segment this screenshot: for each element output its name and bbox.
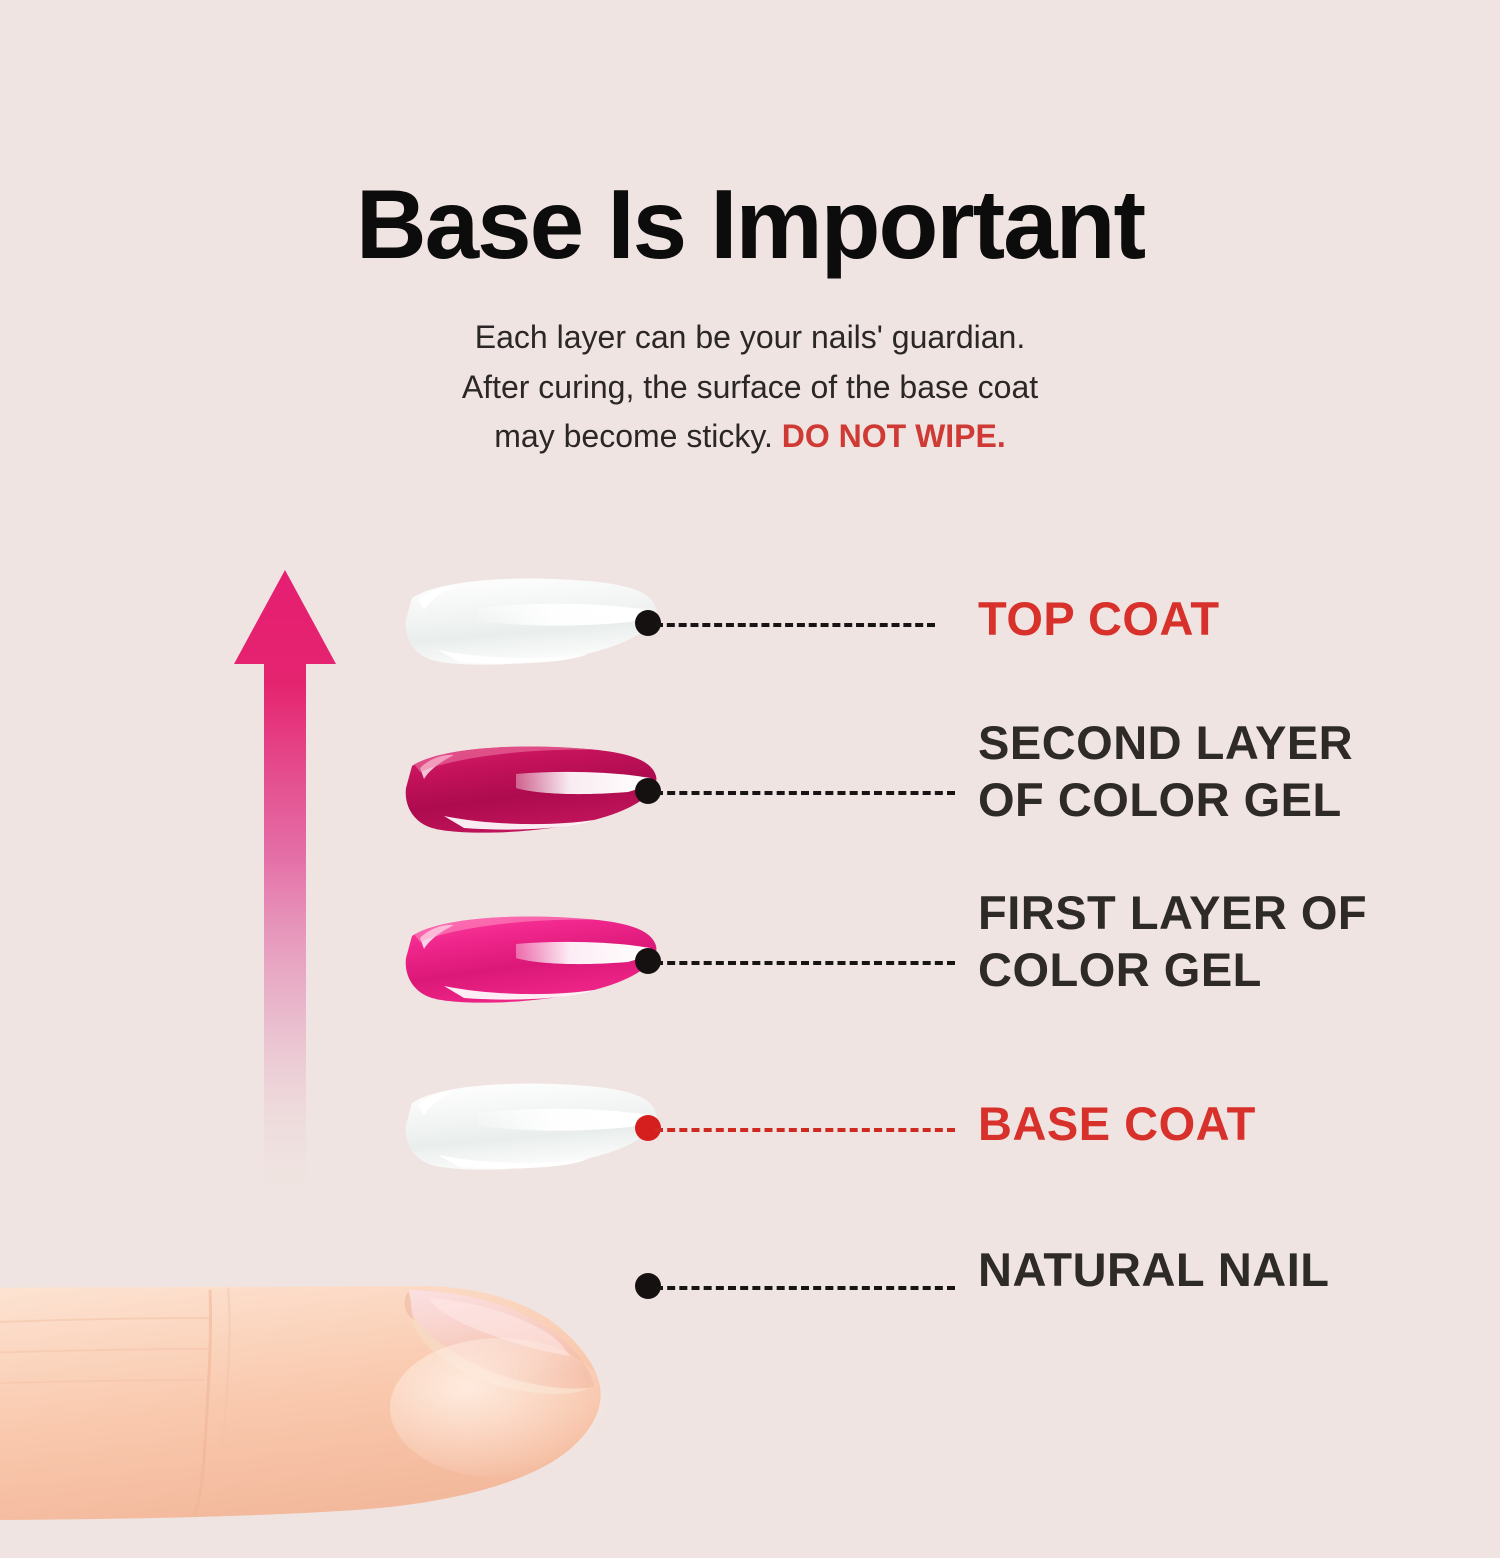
nail-shape-first-layer (398, 906, 666, 1016)
layer-diagram: TOP COAT (0, 0, 1500, 1500)
layer-label-base-coat: BASE COAT (978, 1095, 1256, 1152)
layer-label-top-coat: TOP COAT (978, 590, 1220, 647)
upward-direction-arrow-icon (232, 568, 338, 1208)
connector-line-natural-nail (655, 1286, 955, 1290)
layer-label-natural-nail: NATURAL NAIL (978, 1241, 1330, 1298)
nail-shape-base-coat (398, 1073, 666, 1183)
nail-shape-second-layer (398, 736, 666, 846)
layer-label-first-layer: FIRST LAYER OF COLOR GEL (978, 884, 1367, 999)
connector-line-second-layer (655, 791, 955, 795)
connector-line-top-coat (655, 623, 935, 627)
layer-label-second-layer: SECOND LAYER OF COLOR GEL (978, 714, 1353, 829)
finger-illustration (0, 1258, 660, 1558)
connector-line-first-layer (655, 961, 955, 965)
nail-shape-top-coat (398, 568, 666, 678)
connector-line-base-coat (655, 1128, 955, 1132)
